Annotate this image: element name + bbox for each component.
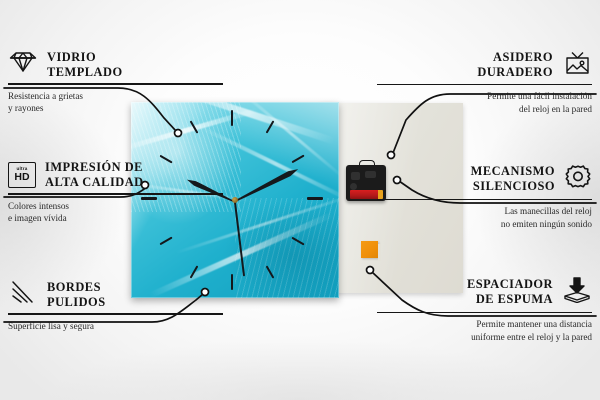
clock-tick [231, 274, 233, 290]
feature-description: Superficie lisa y segura [8, 320, 223, 332]
feature-impresion-alta-calidad: ultra HD IMPRESIÓN DE ALTA CALIDAD Color… [8, 160, 223, 224]
feature-rule [377, 84, 592, 85]
feature-mecanismo-silencioso: MECANISMO SILENCIOSO Las manecillas del … [377, 163, 592, 230]
gear-icon [564, 163, 592, 195]
feature-rule [8, 313, 223, 314]
feature-description: Las manecillas del reloj no emiten ningú… [377, 205, 592, 229]
feature-title: VIDRIO TEMPLADO [47, 50, 123, 79]
clock-center-pin [232, 197, 238, 203]
feature-espaciador-espuma: ESPACIADOR DE ESPUMA Permite mantener un… [377, 276, 592, 343]
feature-description: Resistencia a grietas y rayones [8, 90, 223, 114]
polished-edges-icon [8, 280, 38, 309]
infographic-canvas: VIDRIO TEMPLADO Resistencia a grietas y … [0, 0, 600, 400]
mechanism-knob [351, 172, 360, 180]
mechanism-shaft [350, 183, 357, 190]
picture-hanger-icon [562, 50, 592, 80]
clock-tick [307, 197, 323, 200]
diamond-icon [8, 50, 38, 79]
feature-bordes-pulidos: BORDES PULIDOS Superficie lisa y segura [8, 280, 223, 332]
feature-title: ESPACIADOR DE ESPUMA [467, 277, 553, 306]
feature-rule [377, 199, 592, 200]
mechanism-hanger [359, 160, 375, 169]
feature-title: IMPRESIÓN DE ALTA CALIDAD [45, 160, 144, 189]
feature-rule [377, 312, 592, 313]
foam-spacer-icon [562, 276, 592, 308]
feature-title: MECANISMO SILENCIOSO [471, 164, 555, 193]
mechanism-knob [365, 171, 376, 178]
feature-rule [8, 83, 223, 84]
feature-rule [8, 193, 223, 194]
ultra-hd-icon-large-text: HD [14, 172, 29, 183]
feature-title: ASIDERO DURADERO [477, 50, 553, 79]
ultra-hd-icon: ultra HD [8, 162, 36, 188]
feature-description: Permite una fácil instalación del reloj … [377, 90, 592, 114]
clock-tick [231, 110, 233, 126]
feature-description: Colores intensos e imagen vívida [8, 200, 223, 224]
foam-spacer-pad [361, 241, 378, 258]
feature-vidrio-templado: VIDRIO TEMPLADO Resistencia a grietas y … [8, 50, 223, 114]
feature-asidero-duradero: ASIDERO DURADERO Permite una fácil insta… [377, 50, 592, 115]
feature-title: BORDES PULIDOS [47, 280, 106, 309]
feature-description: Permite mantener una distancia uniforme … [377, 318, 592, 342]
